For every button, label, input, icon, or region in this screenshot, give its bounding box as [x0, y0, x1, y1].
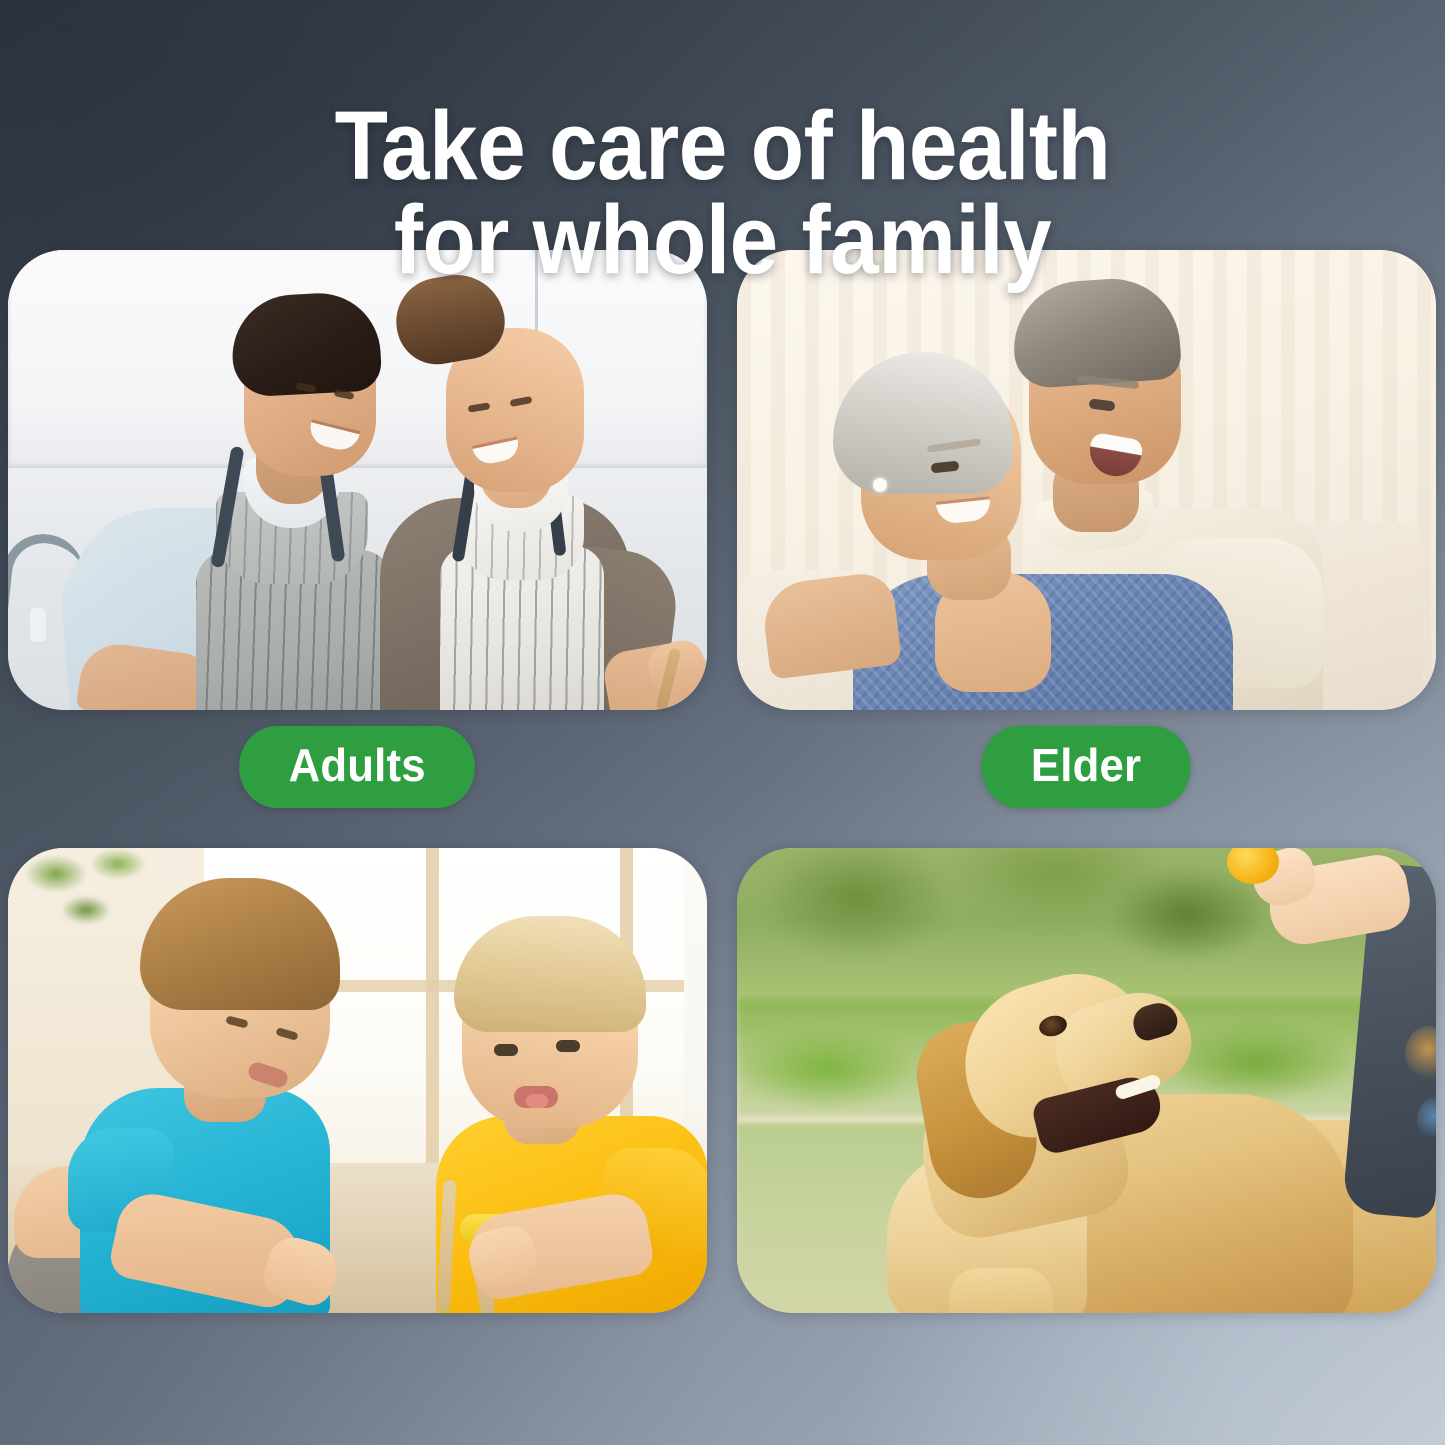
child-yellow-eye-left: [494, 1044, 518, 1056]
window-mullion-vertical-1: [426, 848, 439, 1178]
category-badge-elder[interactable]: Elder: [982, 726, 1191, 808]
photo-pets: [737, 848, 1436, 1313]
badge-row-adults: Adults: [8, 726, 707, 808]
photo-children: [8, 848, 707, 1313]
faucet-handle: [30, 608, 46, 642]
photo-card-elder[interactable]: [737, 250, 1436, 710]
child-yellow-eye-right: [556, 1040, 580, 1052]
dog-foreleg: [949, 1268, 1053, 1313]
photo-card-children[interactable]: [8, 848, 707, 1313]
elder-woman-earring: [873, 478, 887, 492]
photo-card-pets[interactable]: [737, 848, 1436, 1313]
poster-root: Take care of health for whole family: [0, 0, 1445, 1445]
category-cell-adults: Adults: [8, 250, 707, 710]
category-grid: Adults: [8, 250, 1437, 1313]
page-title-line-2: for whole family: [72, 193, 1373, 287]
category-badge-adults[interactable]: Adults: [240, 726, 476, 808]
badge-row-elder: Elder: [737, 726, 1436, 808]
photo-adults: [8, 250, 707, 710]
category-cell-children: Children: [8, 848, 707, 1313]
photo-elder: [737, 250, 1436, 710]
elder-woman-hair: [833, 352, 1013, 494]
page-title: Take care of health for whole family: [72, 99, 1373, 287]
page-title-line-1: Take care of health: [72, 99, 1373, 193]
category-cell-pets: Pets: [737, 848, 1436, 1313]
photo-card-adults[interactable]: [8, 250, 707, 710]
category-cell-elder: Elder: [737, 250, 1436, 710]
child-yellow-tongue: [526, 1094, 548, 1108]
